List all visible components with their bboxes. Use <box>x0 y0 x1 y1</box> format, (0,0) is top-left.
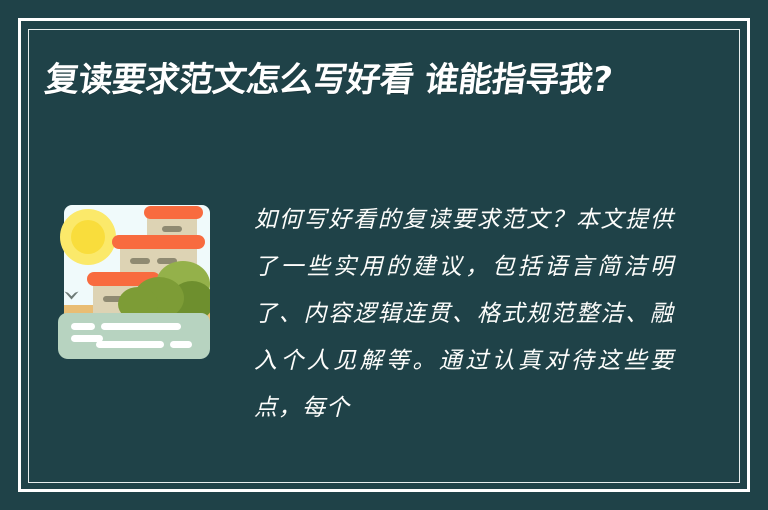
placeholder-line <box>101 323 181 330</box>
placeholder-line <box>96 341 164 348</box>
text-placeholder-card <box>58 313 210 359</box>
title-block: 复读要求范文怎么写好看 谁能指导我? <box>48 57 658 104</box>
placeholder-line <box>71 323 95 330</box>
poster-canvas: 复读要求范文怎么写好看 谁能指导我? <box>0 0 768 510</box>
content-row: 如何写好看的复读要求范文？本文提供了一些实用的建议，包括语言简洁明了、内容逻辑连… <box>48 197 720 432</box>
sun-core-icon <box>71 220 105 254</box>
article-body-text: 如何写好看的复读要求范文？本文提供了一些实用的建议，包括语言简洁明了、内容逻辑连… <box>254 197 674 432</box>
roof-back <box>144 206 203 219</box>
window-back <box>162 226 182 232</box>
bird-icon <box>64 291 79 300</box>
window-middle-left <box>130 258 150 264</box>
placeholder-line <box>170 341 192 348</box>
roof-middle <box>112 235 205 249</box>
page-title: 复读要求范文怎么写好看 谁能指导我? <box>42 57 658 104</box>
article-illustration <box>58 201 210 359</box>
